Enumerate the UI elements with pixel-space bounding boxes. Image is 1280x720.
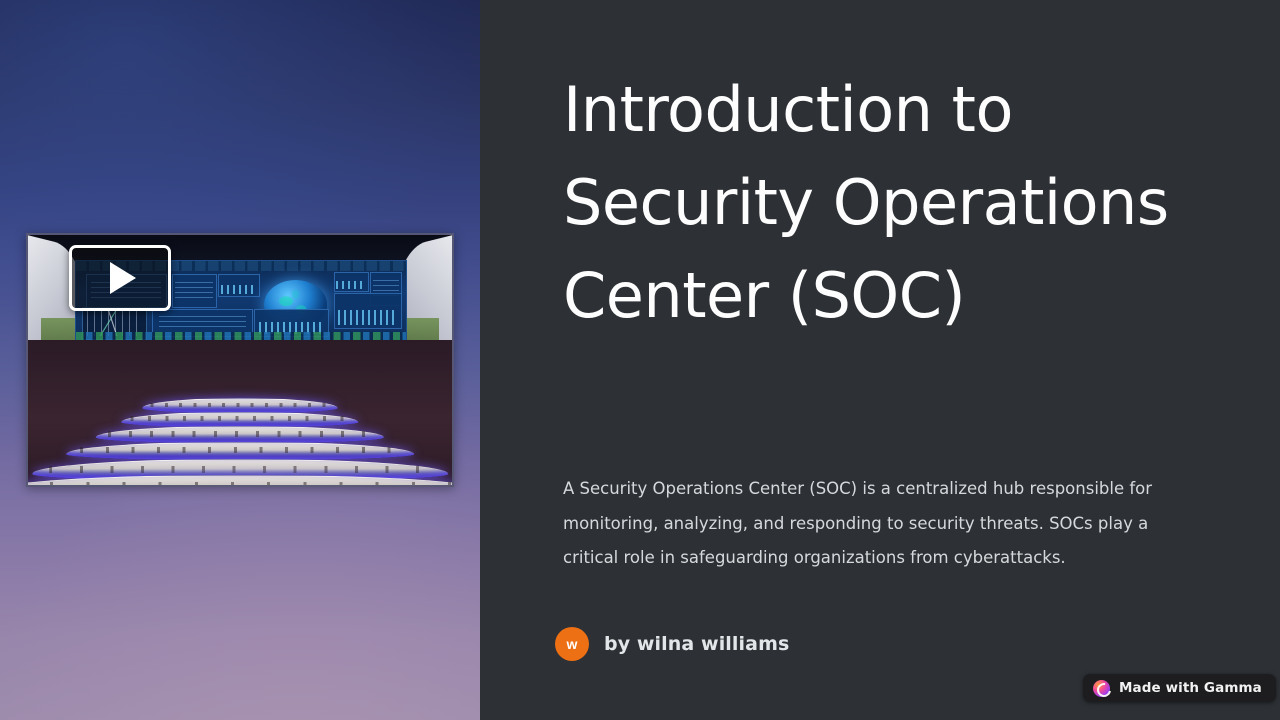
video-wall-chart-bars [336, 281, 366, 289]
author-name: by wilna williams [604, 633, 789, 655]
play-triangle [110, 262, 136, 294]
slide-left-panel [0, 0, 480, 720]
play-icon[interactable] [69, 245, 171, 311]
video-wall-chart-bars [338, 310, 398, 325]
video-wall-chart-lines [159, 316, 246, 331]
presentation-slide: Introduction to Security Operations Cent… [0, 0, 1280, 720]
seat-markers [107, 431, 372, 436]
video-thumbnail-card[interactable] [26, 233, 454, 487]
video-wall-panel [172, 274, 217, 308]
desk-row [142, 398, 337, 412]
video-wall-chart-lines [175, 282, 213, 301]
video-wall-panel [334, 293, 402, 329]
video-wall-panel [334, 272, 369, 292]
video-wall-chart-bars [221, 285, 257, 294]
desk-row [96, 426, 384, 443]
avatar: w [555, 627, 589, 661]
seat-markers [150, 403, 329, 407]
seat-markers [131, 416, 349, 421]
seat-markers [28, 482, 452, 485]
seat-markers [80, 447, 400, 453]
seat-markers [49, 466, 431, 473]
slide-description: A Security Operations Center (SOC) is a … [563, 472, 1178, 576]
made-with-gamma-label: Made with Gamma [1119, 680, 1262, 696]
desk-row [121, 412, 358, 428]
page-title: Introduction to Security Operations Cent… [563, 63, 1203, 342]
room-floor [28, 340, 452, 485]
desk-row [66, 442, 414, 460]
made-with-gamma-badge[interactable]: Made with Gamma [1083, 674, 1276, 702]
author-byline: w by wilna williams [555, 627, 789, 661]
video-wall-panel [218, 274, 260, 297]
gamma-logo-icon [1093, 680, 1110, 697]
slide-right-panel: Introduction to Security Operations Cent… [480, 0, 1280, 720]
